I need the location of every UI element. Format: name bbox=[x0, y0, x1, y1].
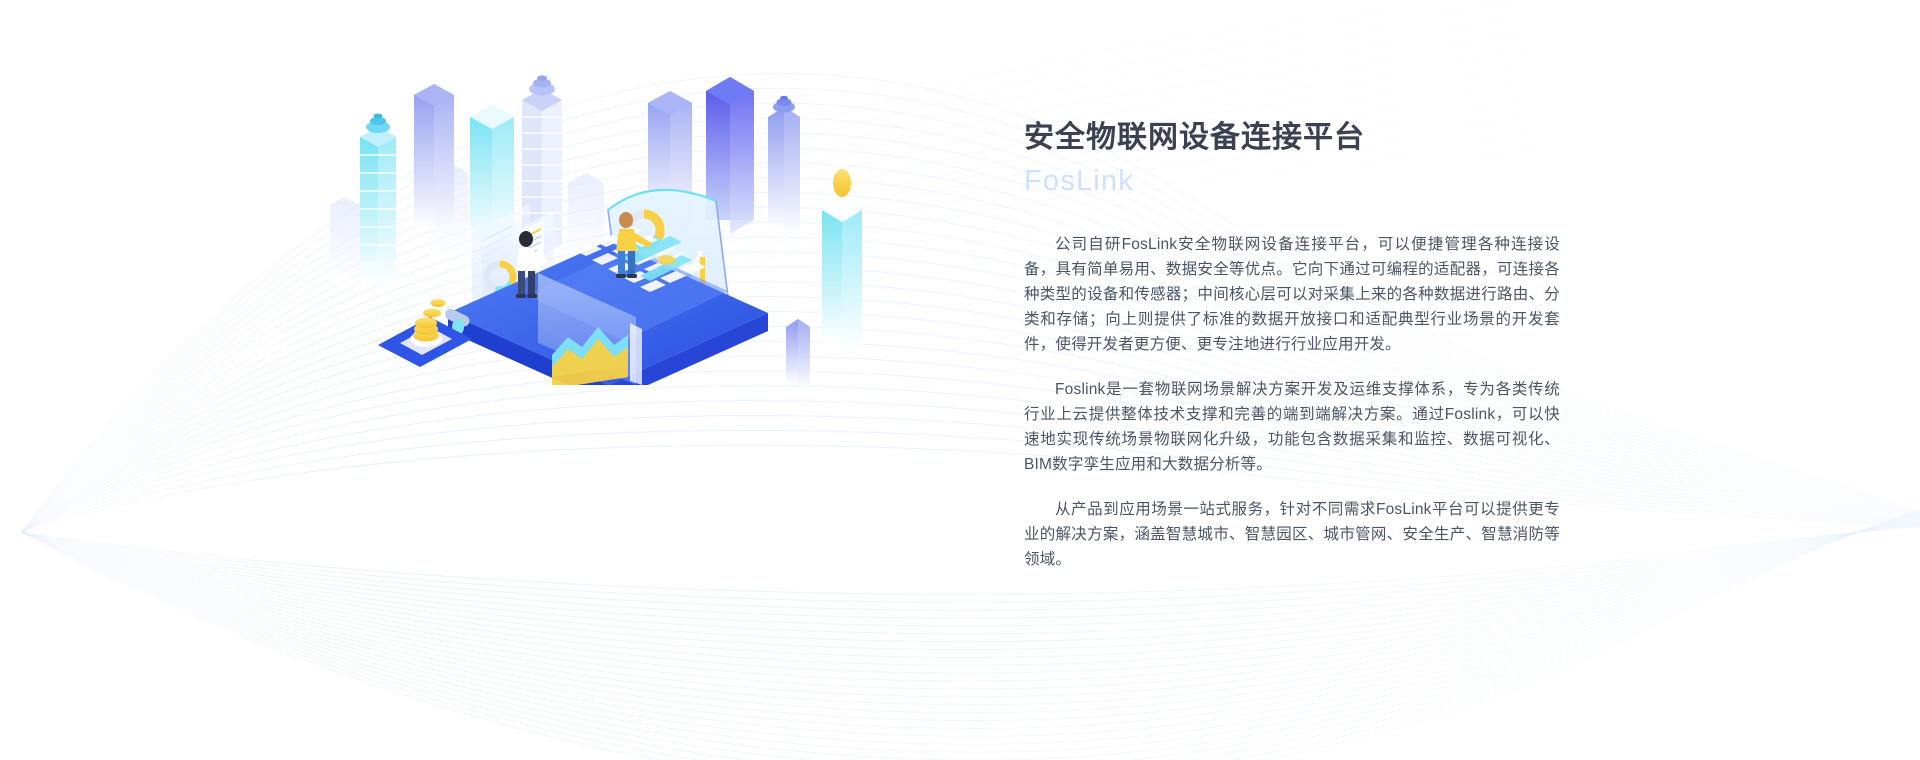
building-tiered-cyan bbox=[360, 114, 396, 293]
hero-illustration bbox=[330, 55, 890, 385]
paragraph-2: Foslink是一套物联网场景解决方案开发及运维支撑体系，专为各类传统行业上云提… bbox=[1024, 377, 1560, 477]
hero-section: 安全物联网设备连接平台 FosLink 公司自研FosLink安全物联网设备连接… bbox=[0, 0, 1920, 760]
page-subtitle: FosLink bbox=[1024, 160, 1560, 202]
building-small-purple-far-right bbox=[786, 319, 810, 385]
body-copy: 公司自研FosLink安全物联网设备连接平台，可以便捷管理各种连接设备，具有简单… bbox=[1024, 232, 1560, 572]
paragraph-3: 从产品到应用场景一站式服务，针对不同需求FosLink平台可以提供更专业的解决方… bbox=[1024, 497, 1560, 572]
page-title: 安全物联网设备连接平台 bbox=[1024, 118, 1560, 158]
building-purple-left bbox=[414, 84, 454, 241]
hero-text-column: 安全物联网设备连接平台 FosLink 公司自研FosLink安全物联网设备连接… bbox=[1024, 118, 1560, 572]
paragraph-1: 公司自研FosLink安全物联网设备连接平台，可以便捷管理各种连接设备，具有简单… bbox=[1024, 232, 1560, 357]
building-cyan-pillar-coin bbox=[822, 169, 862, 357]
building-round-top-purple bbox=[768, 96, 800, 240]
background-wave-lines bbox=[0, 0, 1920, 760]
